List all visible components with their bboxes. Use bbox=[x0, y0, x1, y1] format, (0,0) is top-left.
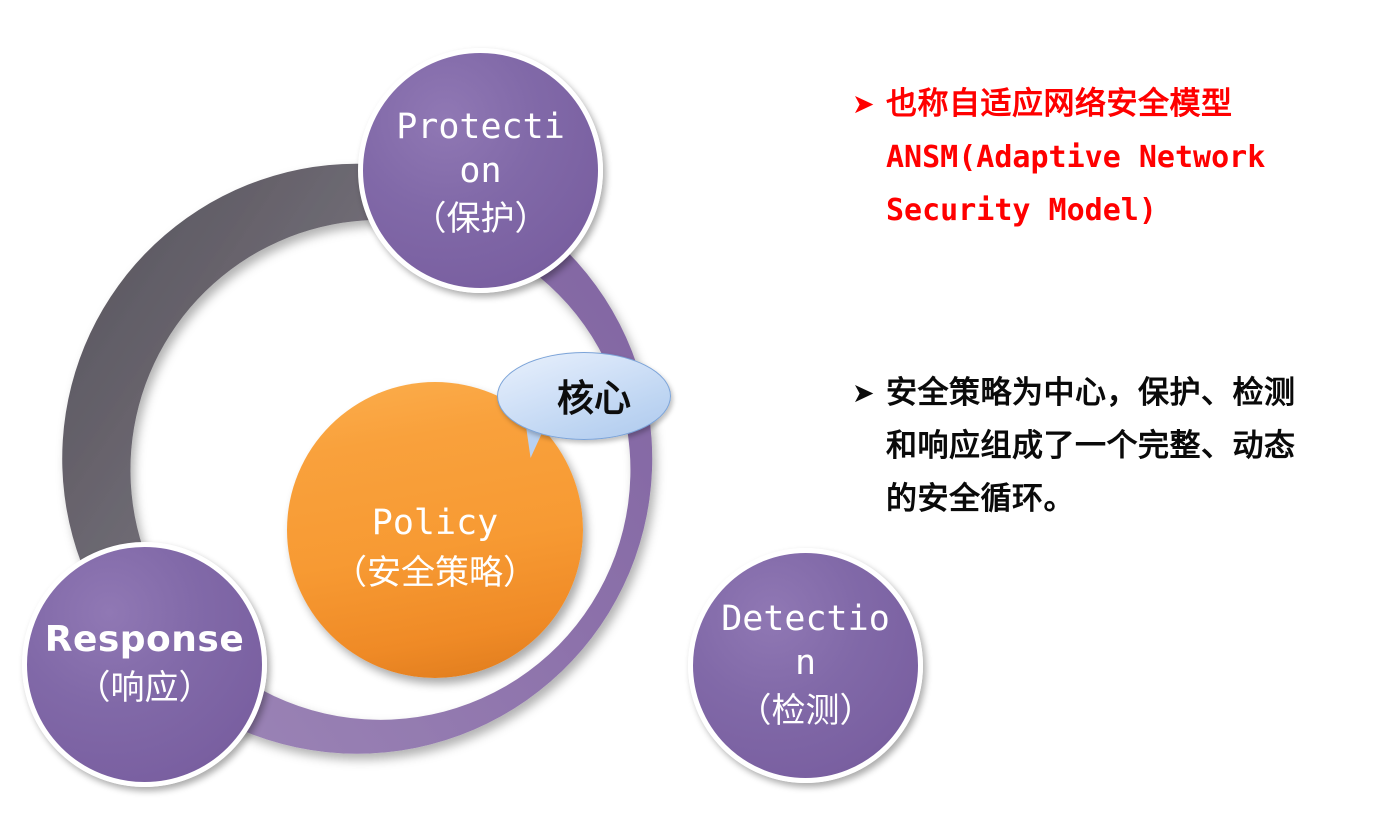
bullet-2-line-3: 的安全循环。 bbox=[886, 473, 1382, 526]
bullet-item-2: ➤ 安全策略为中心，保护、检测 和响应组成了一个完整、动态 的安全循环。 bbox=[852, 367, 1382, 526]
core-callout[interactable]: 核心 bbox=[497, 352, 669, 452]
bullet-2-line-2: 和响应组成了一个完整、动态 bbox=[886, 420, 1382, 473]
protection-label-en: Protecti on bbox=[396, 105, 565, 193]
detection-circle[interactable]: Detectio n （检测） bbox=[688, 548, 923, 783]
bullet-1-line-2: ANSM(Adaptive Network bbox=[886, 131, 1382, 184]
text-column: ➤ 也称自适应网络安全模型 ANSM(Adaptive Network Secu… bbox=[852, 78, 1382, 526]
policy-label-cn: （安全策略） bbox=[333, 548, 537, 598]
response-circle[interactable]: Response （响应） bbox=[22, 542, 267, 787]
bullet-item-1: ➤ 也称自适应网络安全模型 ANSM(Adaptive Network Secu… bbox=[852, 78, 1382, 237]
callout-label: 核心 bbox=[497, 352, 669, 438]
slide-canvas: Policy （安全策略） 核心 Protecti on （保护） Detect… bbox=[0, 0, 1397, 823]
bullet-1-body: 也称自适应网络安全模型 ANSM(Adaptive Network Securi… bbox=[886, 78, 1382, 237]
protection-circle[interactable]: Protecti on （保护） bbox=[358, 48, 603, 293]
bullet-1-line-3: Security Model) bbox=[886, 184, 1382, 237]
bullet-2-body: 安全策略为中心，保护、检测 和响应组成了一个完整、动态 的安全循环。 bbox=[886, 367, 1382, 526]
response-label-en: Response bbox=[45, 618, 245, 662]
detection-label-en: Detectio n bbox=[721, 597, 890, 685]
bullet-2-line-1: 安全策略为中心，保护、检测 bbox=[886, 367, 1382, 420]
protection-label-cn: （保护） bbox=[413, 195, 549, 243]
bullet-arrow-icon: ➤ bbox=[852, 367, 886, 420]
detection-label-cn: （检测） bbox=[738, 687, 874, 735]
response-label-cn: （响应） bbox=[77, 664, 213, 712]
policy-label-en: Policy bbox=[372, 502, 498, 544]
bullet-1-line-1: 也称自适应网络安全模型 bbox=[886, 78, 1382, 131]
bullet-arrow-icon: ➤ bbox=[852, 78, 886, 131]
